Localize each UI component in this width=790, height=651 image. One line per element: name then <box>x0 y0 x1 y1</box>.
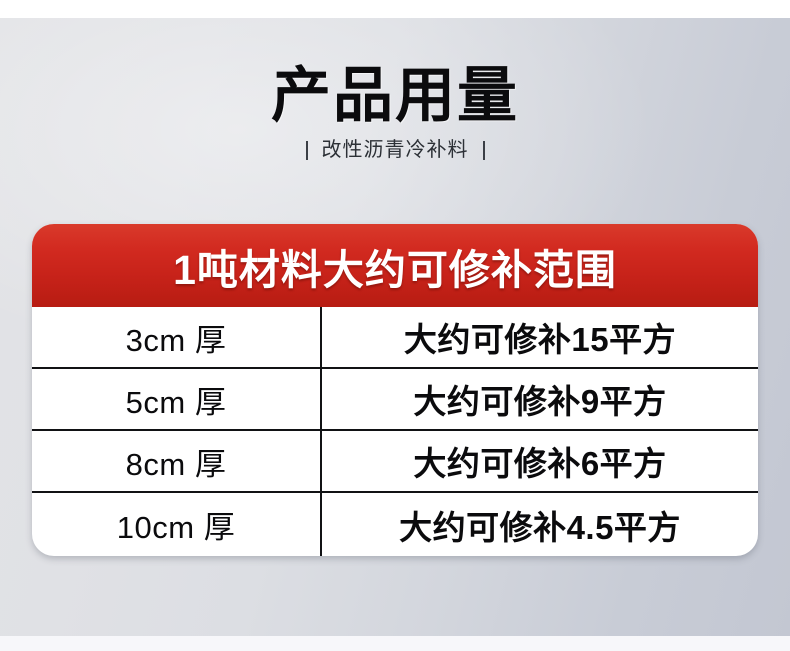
table-row: 5cm 厚 大约可修补9平方 <box>32 369 758 431</box>
table-body: 3cm 厚 大约可修补15平方 5cm 厚 大约可修补9平方 8cm 厚 大约可… <box>32 307 758 556</box>
cell-coverage: 大约可修补4.5平方 <box>322 493 758 556</box>
coverage-table: 1吨材料大约可修补范围 3cm 厚 大约可修补15平方 5cm 厚 大约可修补9… <box>32 224 758 556</box>
table-row: 8cm 厚 大约可修补6平方 <box>32 431 758 493</box>
product-usage-infographic: 产品用量 改性沥青冷补料 1吨材料大约可修补范围 3cm 厚 大约可修补15平方… <box>0 0 790 651</box>
table-header-label: 1吨材料大约可修补范围 <box>173 236 617 296</box>
cell-coverage: 大约可修补15平方 <box>322 307 758 367</box>
table-header-bar: 1吨材料大约可修补范围 <box>32 224 758 307</box>
subtitle-row: 改性沥青冷补料 <box>0 138 790 162</box>
header-block: 产品用量 改性沥青冷补料 <box>0 60 790 162</box>
table-row: 3cm 厚 大约可修补15平方 <box>32 307 758 369</box>
cell-thickness: 10cm 厚 <box>32 493 322 556</box>
subtitle-right-bar-icon <box>483 141 485 160</box>
table-row: 10cm 厚 大约可修补4.5平方 <box>32 493 758 556</box>
cell-thickness: 8cm 厚 <box>32 431 322 491</box>
bottom-white-strip <box>0 636 790 651</box>
cell-coverage: 大约可修补9平方 <box>322 369 758 429</box>
top-white-strip <box>0 0 790 18</box>
page-subtitle: 改性沥青冷补料 <box>322 138 469 162</box>
cell-thickness: 3cm 厚 <box>32 307 322 367</box>
cell-thickness: 5cm 厚 <box>32 369 322 429</box>
cell-coverage: 大约可修补6平方 <box>322 431 758 491</box>
subtitle-left-bar-icon <box>306 141 308 160</box>
page-title: 产品用量 <box>0 60 790 132</box>
